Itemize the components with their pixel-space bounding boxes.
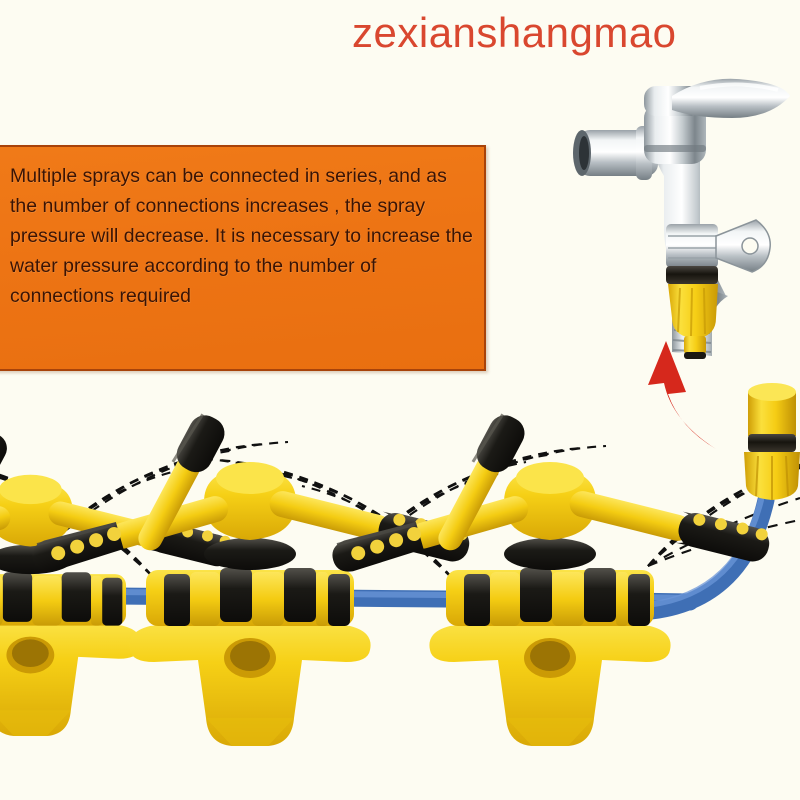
product-marketing-image: zexianshangmao [0, 0, 800, 800]
info-callout-text: Multiple sprays can be connected in seri… [10, 161, 476, 311]
sprinkler-row [0, 0, 800, 800]
sprinkler-unit-3 [329, 410, 773, 746]
info-callout-box: Multiple sprays can be connected in seri… [0, 145, 486, 371]
